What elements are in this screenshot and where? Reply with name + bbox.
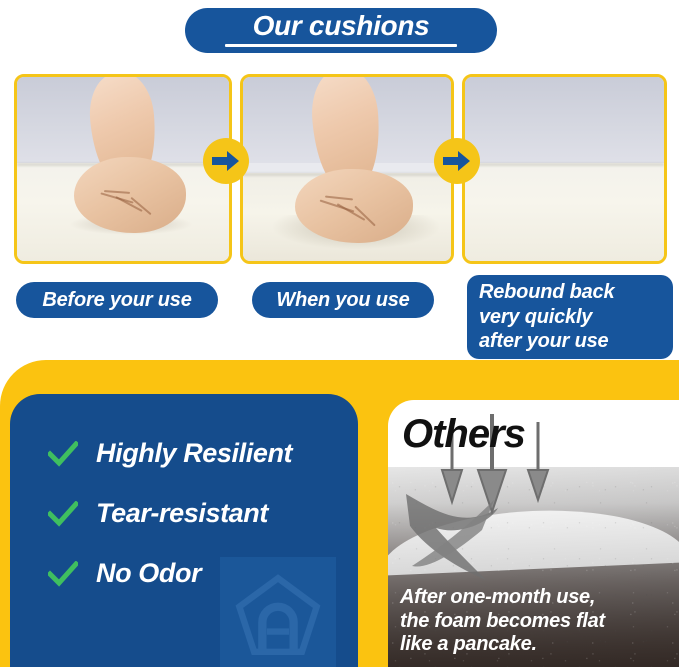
comparison-panel-before xyxy=(14,74,232,264)
title-underline xyxy=(225,44,457,47)
arrow-right-icon xyxy=(443,150,471,172)
page-title: Our cushions xyxy=(253,12,430,40)
page-title-banner: Our cushions xyxy=(185,8,497,53)
comparison-panel-after xyxy=(462,74,667,264)
check-icon xyxy=(48,561,78,587)
arrow-badge-2 xyxy=(434,138,480,184)
others-caption: After one-month use, the foam becomes fl… xyxy=(400,586,605,657)
arrow-right-icon xyxy=(212,150,240,172)
caption-after: Rebound back very quickly after your use xyxy=(467,275,673,359)
arrow-badge-1 xyxy=(203,138,249,184)
knuckle-line xyxy=(325,196,353,201)
caption-before: Before your use xyxy=(16,282,218,318)
feature-label: Highly Resilient xyxy=(96,438,292,469)
pentagon-house-icon xyxy=(232,569,324,661)
others-caption-line-1: After one-month use, xyxy=(400,586,605,610)
feature-item-no-odor: No Odor xyxy=(48,558,201,589)
others-comparison-card: Others After one-month use, the foam bec… xyxy=(388,400,679,667)
features-panel: Highly Resilient Tear-resistant No Odor xyxy=(10,394,358,667)
caption-after-line-3: after your use xyxy=(479,329,608,353)
feature-label: No Odor xyxy=(96,558,201,589)
others-caption-line-3: like a pancake. xyxy=(400,633,605,657)
pentagon-house-logo-watermark xyxy=(220,557,336,667)
caption-after-line-2: very quickly xyxy=(479,305,592,329)
caption-during: When you use xyxy=(252,282,434,318)
foam-edge-line xyxy=(465,163,664,166)
knuckle-line xyxy=(104,190,130,194)
fist xyxy=(295,169,413,243)
feature-item-tear-resistant: Tear-resistant xyxy=(48,498,268,529)
caption-after-line-1: Rebound back xyxy=(479,280,614,304)
others-caption-line-2: the foam becomes flat xyxy=(400,610,605,634)
x-cross-mark xyxy=(394,488,514,584)
feature-label: Tear-resistant xyxy=(96,498,268,529)
others-title: Others xyxy=(402,412,525,457)
check-icon xyxy=(48,501,78,527)
comparison-panel-during xyxy=(240,74,454,264)
infographic-canvas: Our cushions xyxy=(0,0,679,667)
feature-item-highly-resilient: Highly Resilient xyxy=(48,438,292,469)
fist xyxy=(74,157,186,233)
foam-surface xyxy=(465,163,664,261)
panel-background-wall xyxy=(465,77,664,163)
check-icon xyxy=(48,441,78,467)
x-brush-icon xyxy=(394,488,514,584)
